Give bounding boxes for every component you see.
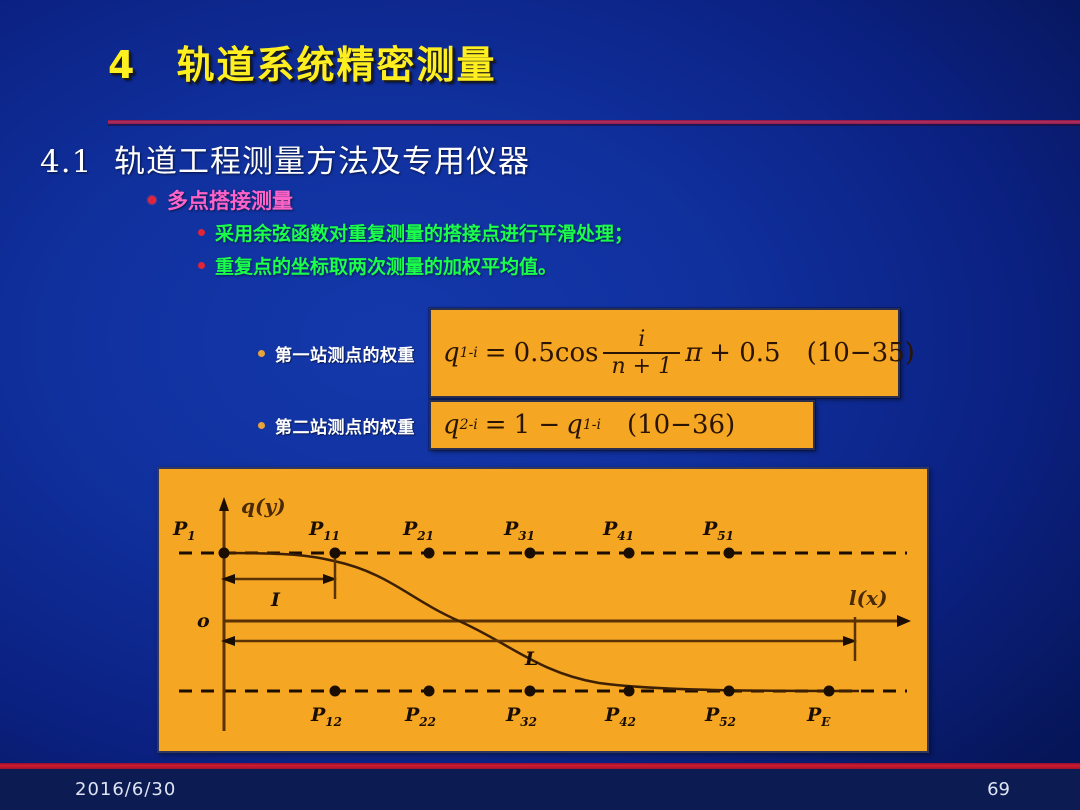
upper-point-label: P31 [503,518,535,543]
formula-1-lhs-sub: 1-i [460,345,478,361]
lower-point-label: P22 [404,704,436,729]
section-heading: 4.1 轨道工程测量方法及专用仪器 [40,136,530,181]
upper-point-label: P1 [172,518,196,543]
weighting-function-diagram: q(y) l(x) o I L [157,467,929,753]
title-text: 轨道系统精密测量 [176,34,496,89]
lower-point-label: P12 [310,704,342,729]
upper-point-marker [724,548,735,559]
bullet-level1-label: 多点搭接测量 [167,185,293,215]
formula-2-box: q2-i = 1 − q1-i (10−36) [429,400,815,450]
upper-point-marker [525,548,536,559]
formula-1-lhs-base: q [443,338,460,368]
formula-1-numerator: i [630,329,653,352]
lower-point-label: P32 [505,704,537,729]
formula-2-rhs-base: q [566,410,583,440]
section-number: 4.1 [40,144,92,180]
formula-1-box: q1-i = 0.5cos i n + 1 π + 0.5 (10−35) [429,308,900,398]
formula-2-lhs-base: q [443,410,460,440]
bullet-level1: 多点搭接测量 [148,185,293,215]
dimension-I-label: I [270,589,281,611]
upper-point-label: P11 [308,518,340,543]
formula-row-1: 第一站测点的权重 q1-i = 0.5cos i n + 1 π + 0.5 (… [258,308,900,398]
lower-point-marker [724,686,735,697]
formula-2-label: 第二站测点的权重 [275,413,415,438]
x-axis-arrow-icon [897,615,911,627]
lower-point-label: P52 [704,704,736,729]
upper-point-label: P41 [602,518,634,543]
formula-1-denominator: n + 1 [603,354,680,378]
formula-2-expression: q2-i = 1 − q1-i (10−36) [443,410,735,440]
slide-canvas: 4 轨道系统精密测量 4.1 轨道工程测量方法及专用仪器 多点搭接测量 采用余弦… [0,0,1080,810]
x-axis-label: l(x) [849,586,887,610]
formula-2-rhs-sub: 1-i [583,417,601,433]
formula-1-tail: + 0.5 [709,338,780,368]
formula-1-number: (10−35) [807,338,915,368]
footer-date: 2016/6/30 [75,779,176,800]
bullet-level2-2: 重复点的坐标取两次测量的加权平均值。 [198,252,557,279]
bullet-level2-1: 采用余弦函数对重复测量的搭接点进行平滑处理； [198,219,633,246]
lower-point-marker [330,686,341,697]
formula-2-number: (10−36) [627,410,735,440]
bullet-dot-icon [198,262,205,269]
bullet-level2-1-label: 采用余弦函数对重复测量的搭接点进行平滑处理； [215,219,633,246]
y-axis-label: q(y) [241,494,286,518]
formula-2-rhs-one: 1 − [514,410,561,440]
upper-point-marker [424,548,435,559]
bullet-dot-icon [258,350,265,357]
footer-page-number: 69 [987,779,1010,800]
bullet-dot-icon [198,229,205,236]
formula-row-2: 第二站测点的权重 q2-i = 1 − q1-i (10−36) [258,400,815,450]
bullet-dot-icon [148,196,156,204]
lower-point-label: P42 [604,704,636,729]
title-number: 4 [108,43,136,87]
formula-1-expression: q1-i = 0.5cos i n + 1 π + 0.5 (10−35) [443,329,915,378]
lower-point-marker [525,686,536,697]
diagram-svg: q(y) l(x) o I L [159,469,927,751]
bullet-level2-2-label: 重复点的坐标取两次测量的加权平均值。 [215,252,557,279]
formula-1-label: 第一站测点的权重 [275,341,415,366]
page-title: 4 轨道系统精密测量 [108,34,496,89]
formula-1-coefficient: 0.5cos [514,338,599,368]
origin-label: o [197,610,210,632]
y-axis-arrow-icon [219,497,229,511]
title-divider [108,120,1080,124]
section-title: 轨道工程测量方法及专用仪器 [114,144,530,180]
lower-point-marker [824,686,835,697]
lower-point-marker [424,686,435,697]
upper-point-label: P21 [402,518,434,543]
formula-2-lhs-sub: 2-i [460,417,478,433]
upper-point-marker [624,548,635,559]
upper-point-label: P51 [702,518,734,543]
formula-2-equals: = [485,410,507,440]
bullet-dot-icon [258,422,265,429]
formula-1-equals: = [485,338,507,368]
upper-point-marker [219,548,230,559]
upper-point-marker [330,548,341,559]
formula-1-pi: π [685,338,702,368]
lower-point-label: PE [806,704,831,729]
lower-point-marker [624,686,635,697]
dimension-L-label: L [524,648,538,670]
formula-1-fraction: i n + 1 [603,329,680,378]
